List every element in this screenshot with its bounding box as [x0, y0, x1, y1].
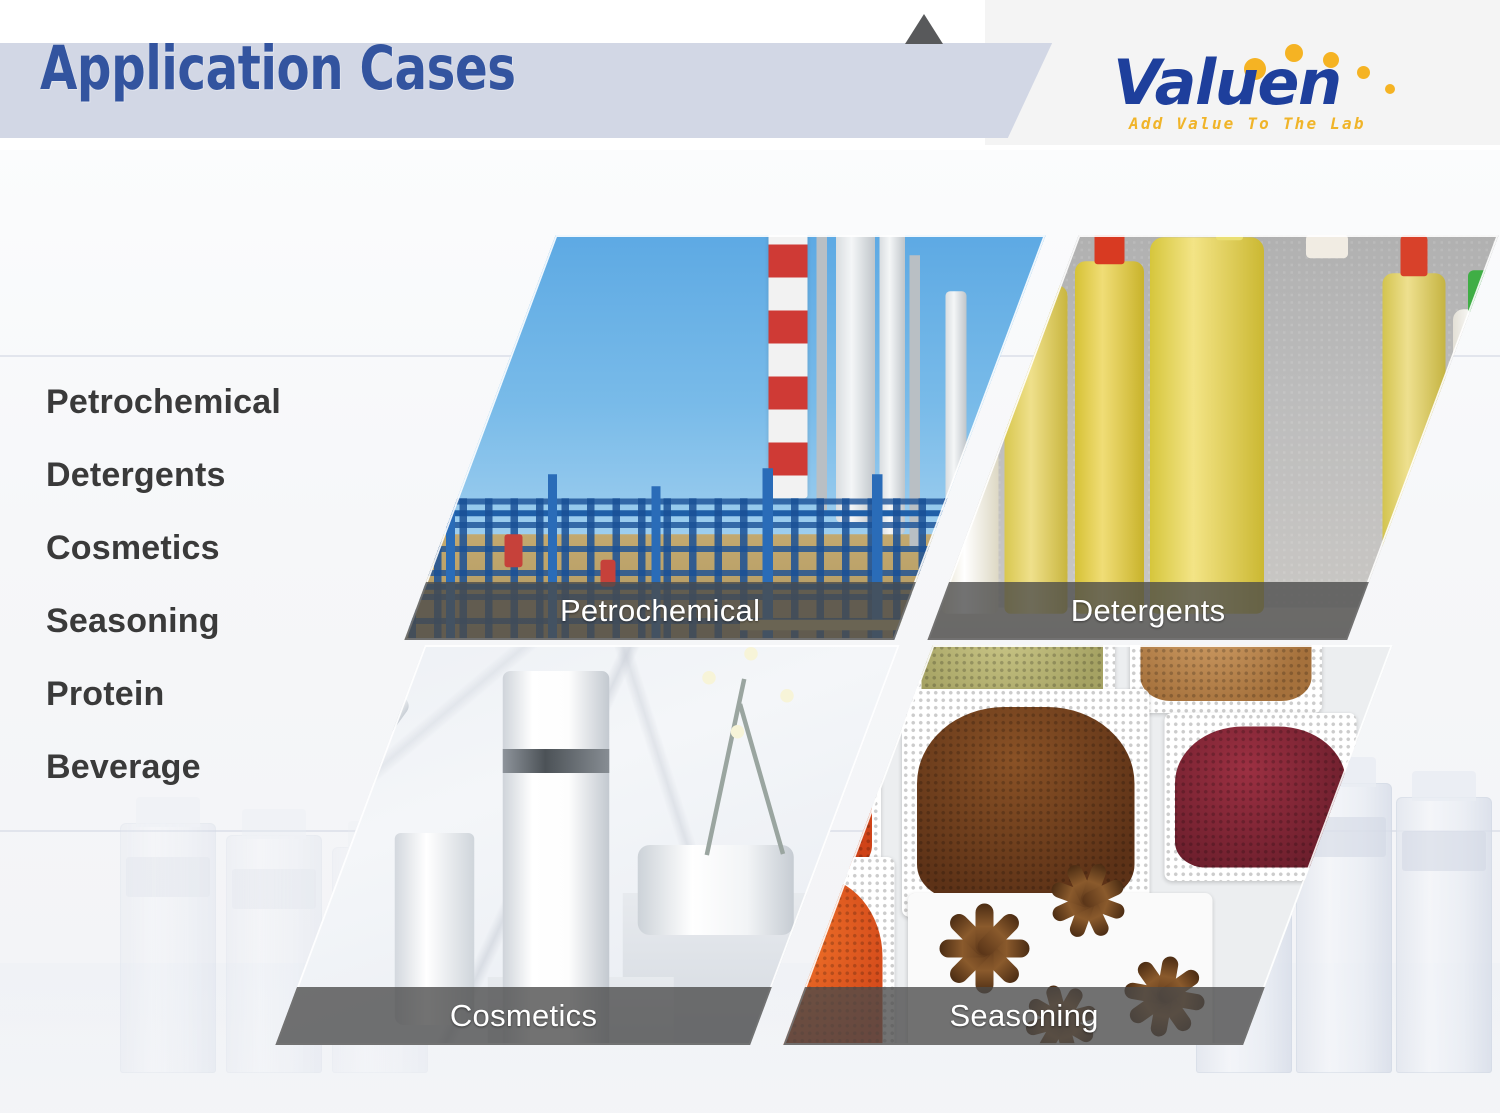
- logo-dot-icon: [1357, 66, 1370, 79]
- star-anise-icon: [1041, 853, 1135, 947]
- category-item-seasoning: Seasoning: [46, 585, 376, 658]
- logo-dot-icon: [1385, 84, 1395, 94]
- tile-caption-cosmetics: Cosmetics: [286, 987, 761, 1045]
- background-instrument-icon: [1396, 797, 1492, 1073]
- tile-caption-petrochemical: Petrochemical: [415, 582, 905, 640]
- category-item-cosmetics: Cosmetics: [46, 512, 376, 585]
- tile-caption-seasoning: Seasoning: [794, 987, 1254, 1045]
- slide-canvas: Application Cases Valuen Add Value To Th…: [0, 0, 1500, 1113]
- category-list: Petrochemical Detergents Cosmetics Seaso…: [46, 366, 376, 804]
- brand-logo[interactable]: Valuen Add Value To The Lab: [1113, 22, 1383, 134]
- category-item-detergents: Detergents: [46, 439, 376, 512]
- category-item-petrochemical: Petrochemical: [46, 366, 376, 439]
- header: Application Cases Valuen Add Value To Th…: [0, 0, 1500, 150]
- category-item-beverage: Beverage: [46, 731, 376, 804]
- tile-caption-detergents: Detergents: [938, 582, 1358, 640]
- logo-wordmark: Valuen: [1113, 46, 1341, 119]
- background-instrument-icon: [120, 823, 216, 1073]
- banner-notch-triangle: [905, 14, 943, 44]
- logo-tagline: Add Value To The Lab: [1129, 114, 1366, 133]
- category-item-protein: Protein: [46, 658, 376, 731]
- page-title: Application Cases: [40, 33, 516, 104]
